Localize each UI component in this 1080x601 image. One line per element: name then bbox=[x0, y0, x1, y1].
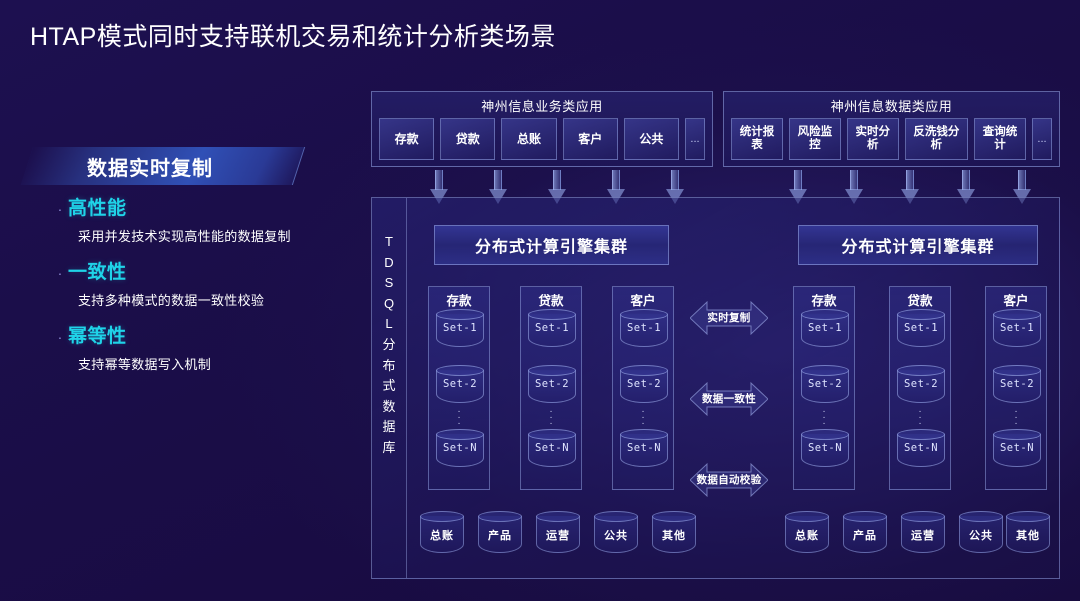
domain-column: 贷款 Set-1 Set-2 ··· Set-N bbox=[520, 286, 582, 490]
set-label: Set-1 bbox=[897, 322, 945, 334]
app-group-data: 神州信息数据类应用 统计报表 风险监控 实时分析 反洗钱分析 查询统计 ... bbox=[723, 91, 1060, 167]
bullet-dot-icon: · bbox=[52, 324, 68, 350]
app-cell: 反洗钱分析 bbox=[905, 118, 968, 160]
ellipsis-dots: ··· bbox=[521, 409, 581, 427]
page-title: HTAP模式同时支持联机交易和统计分析类场景 bbox=[30, 21, 556, 53]
app-group-title: 神州信息业务类应用 bbox=[372, 96, 712, 115]
app-cell: 总账 bbox=[501, 118, 556, 160]
extra-cylinder: 运营 bbox=[536, 511, 580, 553]
feature-bullet-list: · 高性能 采用并发技术实现高性能的数据复制 · 一致性 支持多种模式的数据一致… bbox=[52, 196, 362, 388]
app-cell-row: 统计报表 风险监控 实时分析 反洗钱分析 查询统计 ... bbox=[731, 118, 1052, 160]
sync-arrow-label: 实时复制 bbox=[690, 310, 768, 325]
set-cylinder: Set-1 bbox=[801, 309, 849, 347]
app-cell-more: ... bbox=[1032, 118, 1052, 160]
set-label: Set-N bbox=[436, 442, 484, 454]
bullet-description: 支持多种模式的数据一致性校验 bbox=[78, 292, 362, 310]
set-cylinder: Set-N bbox=[620, 429, 668, 467]
domain-column: 贷款 Set-1 Set-2 ··· Set-N bbox=[889, 286, 951, 490]
set-label: Set-N bbox=[993, 442, 1041, 454]
cluster-header-left: 分布式计算引擎集群 bbox=[434, 225, 669, 265]
set-cylinder: Set-2 bbox=[993, 365, 1041, 403]
set-label: Set-2 bbox=[897, 378, 945, 390]
sync-arrow: 实时复制 bbox=[690, 299, 768, 337]
set-label: Set-1 bbox=[620, 322, 668, 334]
extra-label: 运营 bbox=[536, 527, 580, 543]
app-cell: 存款 bbox=[379, 118, 434, 160]
sync-arrow-label: 数据自动校验 bbox=[690, 472, 768, 487]
sync-arrow-label: 数据一致性 bbox=[690, 391, 768, 406]
app-cell: 贷款 bbox=[440, 118, 495, 160]
bullet-description: 采用并发技术实现高性能的数据复制 bbox=[78, 228, 362, 246]
ellipsis-dots: ··· bbox=[890, 409, 950, 427]
app-cell-row: 存款 贷款 总账 客户 公共 ... bbox=[379, 118, 705, 160]
extra-label: 公共 bbox=[594, 527, 638, 543]
domain-title: 存款 bbox=[794, 290, 854, 309]
bullet-dot-icon: · bbox=[52, 196, 68, 222]
app-cell-more: ... bbox=[685, 118, 705, 160]
domain-title: 客户 bbox=[986, 290, 1046, 309]
domain-title: 贷款 bbox=[521, 290, 581, 309]
set-cylinder: Set-N bbox=[993, 429, 1041, 467]
set-label: Set-N bbox=[528, 442, 576, 454]
sync-arrow: 数据自动校验 bbox=[690, 461, 768, 499]
set-label: Set-1 bbox=[528, 322, 576, 334]
ellipsis-dots: ··· bbox=[986, 409, 1046, 427]
list-item: · 高性能 采用并发技术实现高性能的数据复制 bbox=[52, 196, 362, 246]
set-label: Set-N bbox=[620, 442, 668, 454]
app-group-title: 神州信息数据类应用 bbox=[724, 96, 1059, 115]
sync-arrow: 数据一致性 bbox=[690, 380, 768, 418]
set-label: Set-2 bbox=[801, 378, 849, 390]
set-cylinder: Set-2 bbox=[897, 365, 945, 403]
domain-title: 存款 bbox=[429, 290, 489, 309]
set-label: Set-2 bbox=[528, 378, 576, 390]
extra-label: 其他 bbox=[1006, 527, 1050, 543]
cluster-header-right: 分布式计算引擎集群 bbox=[798, 225, 1038, 265]
tdsql-vertical-label: TDSQL分布式数据库 bbox=[378, 232, 400, 459]
extra-label: 产品 bbox=[843, 527, 887, 543]
set-cylinder: Set-2 bbox=[801, 365, 849, 403]
set-cylinder: Set-1 bbox=[436, 309, 484, 347]
extra-cylinder: 运营 bbox=[901, 511, 945, 553]
bullet-heading: 一致性 bbox=[68, 260, 127, 286]
app-cell: 客户 bbox=[563, 118, 618, 160]
set-cylinder: Set-N bbox=[436, 429, 484, 467]
extra-cylinder: 公共 bbox=[959, 511, 1003, 553]
extra-label: 其他 bbox=[652, 527, 696, 543]
set-cylinder: Set-1 bbox=[620, 309, 668, 347]
set-label: Set-1 bbox=[993, 322, 1041, 334]
set-label: Set-1 bbox=[801, 322, 849, 334]
domain-title: 客户 bbox=[613, 290, 673, 309]
bullet-heading: 高性能 bbox=[68, 196, 127, 222]
set-cylinder: Set-1 bbox=[897, 309, 945, 347]
set-label: Set-2 bbox=[993, 378, 1041, 390]
set-label: Set-2 bbox=[620, 378, 668, 390]
app-cell: 查询统计 bbox=[974, 118, 1026, 160]
app-cell: 公共 bbox=[624, 118, 679, 160]
set-label: Set-1 bbox=[436, 322, 484, 334]
slide-canvas: HTAP模式同时支持联机交易和统计分析类场景 数据实时复制 · 高性能 采用并发… bbox=[0, 0, 1080, 601]
ellipsis-dots: ··· bbox=[429, 409, 489, 427]
extra-cylinder: 其他 bbox=[1006, 511, 1050, 553]
bullet-description: 支持幂等数据写入机制 bbox=[78, 356, 362, 374]
set-cylinder: Set-N bbox=[897, 429, 945, 467]
banner-label: 数据实时复制 bbox=[87, 147, 299, 185]
extra-cylinder: 产品 bbox=[478, 511, 522, 553]
extra-cylinder: 总账 bbox=[785, 511, 829, 553]
extra-cylinder: 产品 bbox=[843, 511, 887, 553]
set-cylinder: Set-1 bbox=[993, 309, 1041, 347]
list-item: · 一致性 支持多种模式的数据一致性校验 bbox=[52, 260, 362, 310]
app-cell: 实时分析 bbox=[847, 118, 899, 160]
set-cylinder: Set-1 bbox=[528, 309, 576, 347]
set-cylinder: Set-N bbox=[801, 429, 849, 467]
ellipsis-dots: ··· bbox=[613, 409, 673, 427]
domain-column: 客户 Set-1 Set-2 ··· Set-N bbox=[985, 286, 1047, 490]
panel-divider bbox=[406, 198, 407, 578]
set-label: Set-N bbox=[801, 442, 849, 454]
section-banner: 数据实时复制 bbox=[27, 147, 299, 185]
domain-column: 客户 Set-1 Set-2 ··· Set-N bbox=[612, 286, 674, 490]
set-label: Set-2 bbox=[436, 378, 484, 390]
app-cell: 统计报表 bbox=[731, 118, 783, 160]
set-label: Set-N bbox=[897, 442, 945, 454]
set-cylinder: Set-2 bbox=[620, 365, 668, 403]
app-group-business: 神州信息业务类应用 存款 贷款 总账 客户 公共 ... bbox=[371, 91, 713, 167]
domain-title: 贷款 bbox=[890, 290, 950, 309]
extra-cylinder: 其他 bbox=[652, 511, 696, 553]
bullet-heading: 幂等性 bbox=[68, 324, 127, 350]
extra-label: 公共 bbox=[959, 527, 1003, 543]
set-cylinder: Set-2 bbox=[528, 365, 576, 403]
app-cell: 风险监控 bbox=[789, 118, 841, 160]
set-cylinder: Set-2 bbox=[436, 365, 484, 403]
list-item: · 幂等性 支持幂等数据写入机制 bbox=[52, 324, 362, 374]
extra-label: 总账 bbox=[785, 527, 829, 543]
extra-label: 产品 bbox=[478, 527, 522, 543]
extra-cylinder: 公共 bbox=[594, 511, 638, 553]
bullet-dot-icon: · bbox=[52, 260, 68, 286]
extra-label: 运营 bbox=[901, 527, 945, 543]
domain-column: 存款 Set-1 Set-2 ··· Set-N bbox=[428, 286, 490, 490]
set-cylinder: Set-N bbox=[528, 429, 576, 467]
extra-cylinder: 总账 bbox=[420, 511, 464, 553]
domain-column: 存款 Set-1 Set-2 ··· Set-N bbox=[793, 286, 855, 490]
extra-label: 总账 bbox=[420, 527, 464, 543]
ellipsis-dots: ··· bbox=[794, 409, 854, 427]
